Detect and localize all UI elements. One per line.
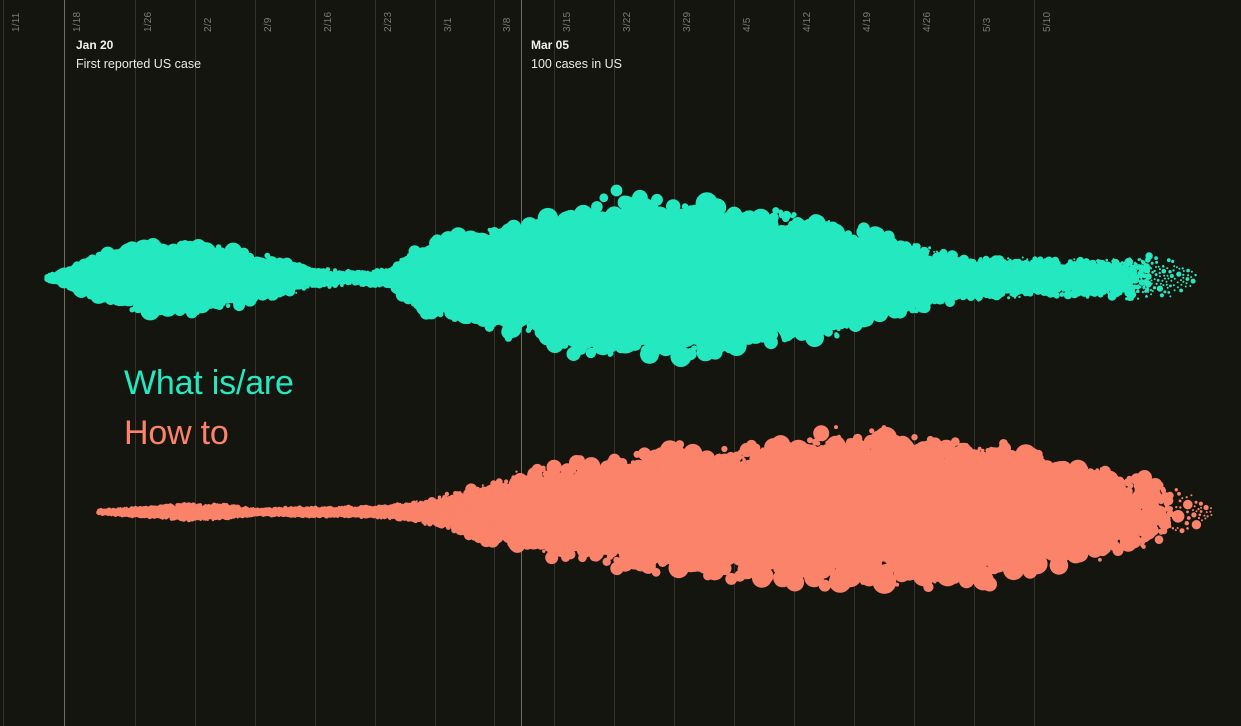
swarm-circle[interactable] <box>226 304 230 308</box>
swarm-circle[interactable] <box>248 253 252 257</box>
visualization-canvas: 1/111/181/262/22/92/162/233/13/83/153/22… <box>0 0 1241 726</box>
series-what-is-are[interactable] <box>44 185 1197 367</box>
swarm-circle[interactable] <box>235 248 238 251</box>
